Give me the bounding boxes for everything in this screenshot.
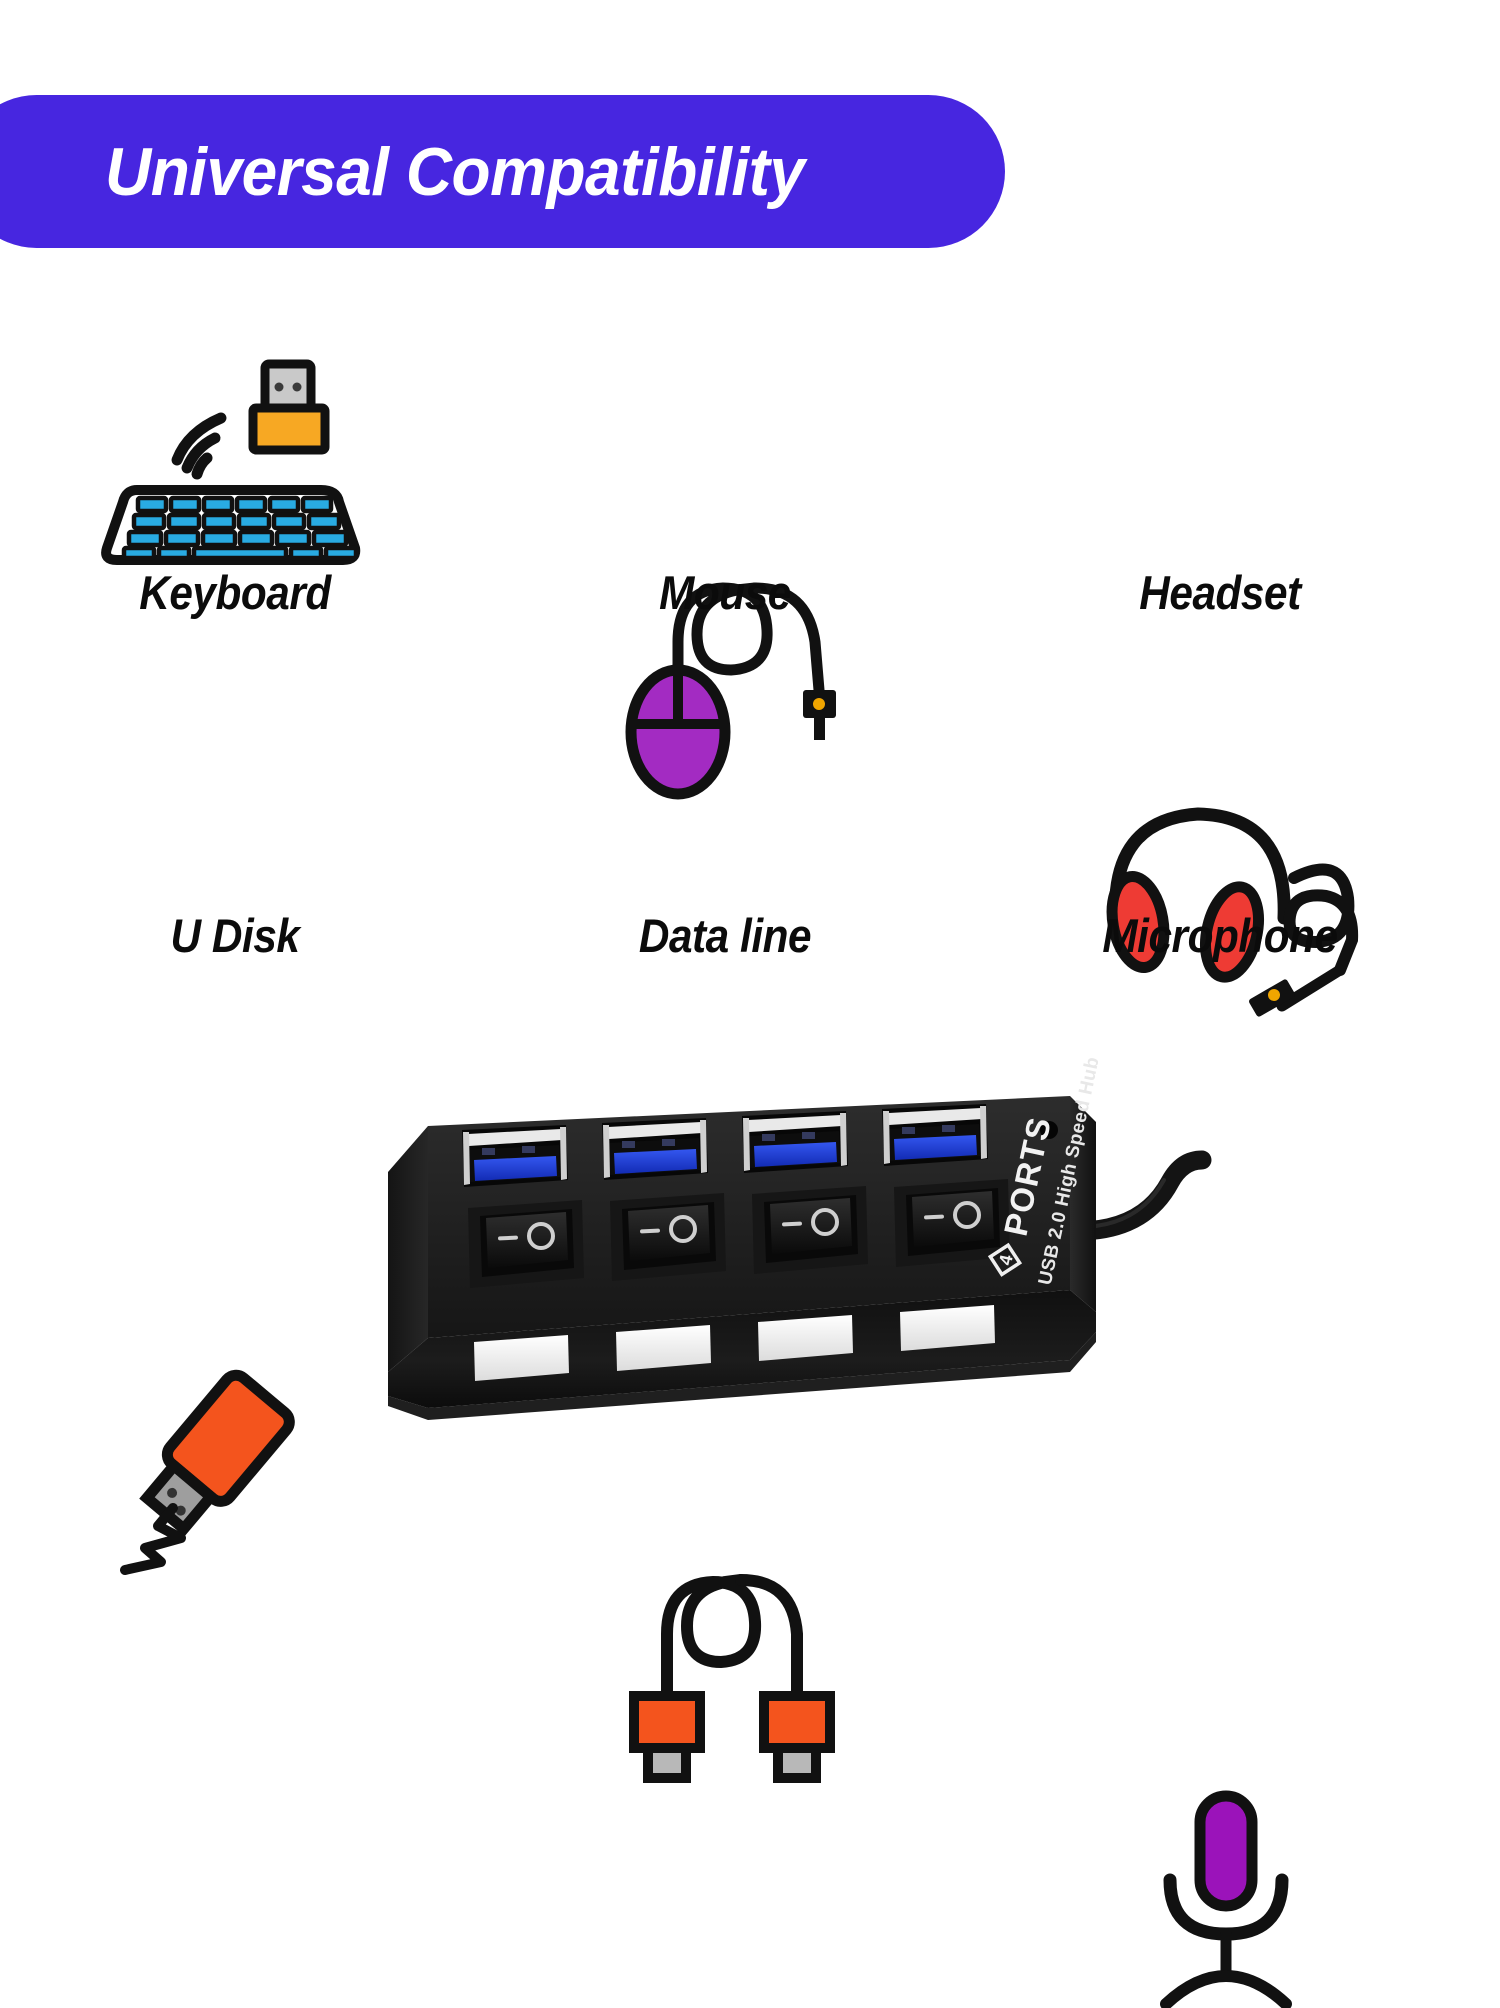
compat-label-dataline: Data line (536, 908, 914, 963)
power-switch-1[interactable] (468, 1200, 584, 1288)
led-indicator-3 (758, 1315, 853, 1361)
headset-icon (1010, 792, 1430, 1012)
compat-item-microphone (1010, 1788, 1430, 2008)
wireless-keyboard-icon (25, 352, 445, 572)
label-row-1-keyboard: Keyboard (25, 565, 445, 620)
usb-port-2[interactable] (602, 1118, 708, 1180)
label-row-1-headset: Headset (1010, 565, 1430, 620)
compat-label-keyboard: Keyboard (46, 565, 424, 620)
compat-item-headset (1010, 792, 1430, 1012)
led-indicator-2 (616, 1325, 711, 1371)
usb-port-4[interactable] (882, 1104, 988, 1166)
usb-port-1[interactable] (462, 1125, 568, 1187)
microphone-icon (1010, 1788, 1430, 2008)
usb-hub-product-photo: 4 PORTS USB 2.0 High Speed Hub (370, 1060, 1230, 1460)
led-indicator-1 (474, 1335, 569, 1381)
compat-label-mouse: Mouse (536, 565, 914, 620)
label-row-2-microphone: Microphone (1010, 908, 1430, 963)
label-row-1-mouse: Mouse (515, 565, 935, 620)
power-switch-3[interactable] (752, 1186, 868, 1274)
compat-item-dataline (515, 1568, 935, 1788)
power-switch-2[interactable] (610, 1193, 726, 1281)
compat-label-headset: Headset (1031, 565, 1409, 620)
compat-item-keyboard (25, 352, 445, 572)
usb-data-cable-icon (515, 1568, 935, 1788)
compat-label-udisk: U Disk (46, 908, 424, 963)
compat-label-microphone: Microphone (1031, 908, 1409, 963)
hub-left-face (388, 1126, 428, 1372)
label-row-2-udisk: U Disk (25, 908, 445, 963)
label-row-2-dataline: Data line (515, 908, 935, 963)
page-title: Universal Compatibility (105, 95, 951, 248)
infographic-canvas: Universal Compatibility (0, 0, 1500, 1500)
usb-port-3[interactable] (742, 1111, 848, 1173)
led-indicator-4 (900, 1305, 995, 1351)
